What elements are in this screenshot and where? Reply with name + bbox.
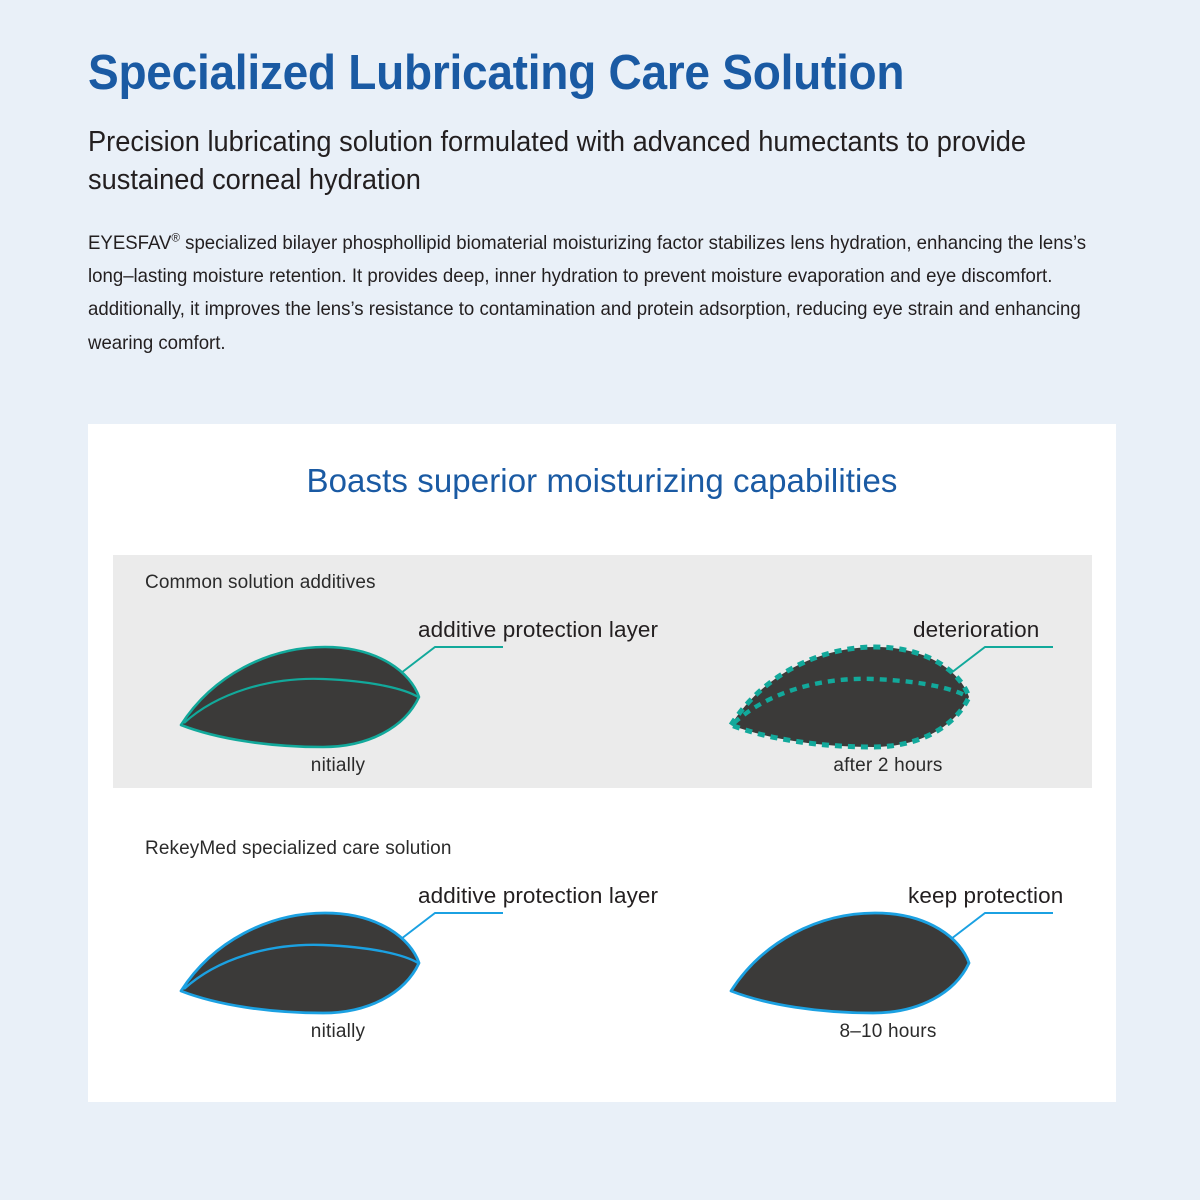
- page-subtitle: Precision lubricating solution formulate…: [88, 124, 1100, 200]
- registered-trademark-icon: ®: [171, 230, 180, 244]
- comparison-card: Boasts superior moisturizing capabilitie…: [88, 424, 1116, 1102]
- lens-figure-common-initial: additive protection layer nitially: [173, 627, 503, 787]
- header-block: Specialized Lubricating Care Solution Pr…: [88, 46, 1148, 360]
- lens-diagram-deteriorated-icon: [723, 627, 1053, 757]
- lens-figure-rekeymed-initial: additive protection layer nitially: [173, 893, 503, 1053]
- body-paragraph-text: specialized bilayer phosphollipid biomat…: [88, 232, 1086, 354]
- panel-label-common: Common solution additives: [145, 572, 376, 594]
- caption-8-10-hours: 8–10 hours: [723, 1021, 1053, 1043]
- poster-page: Specialized Lubricating Care Solution Pr…: [0, 0, 1200, 1200]
- panel-rekeymed-solution: RekeyMed specialized care solution addit…: [113, 788, 1092, 1088]
- card-title: Boasts superior moisturizing capabilitie…: [88, 462, 1116, 500]
- lens-diagram-intact-icon: [723, 893, 1053, 1023]
- caption-after-2-hours: after 2 hours: [723, 755, 1053, 777]
- callout-additive-protection-layer-2: additive protection layer: [418, 883, 658, 909]
- callout-deterioration: deterioration: [913, 617, 1039, 643]
- lens-diagram-icon: [173, 893, 503, 1023]
- panel-common-additives: Common solution additives additive prote…: [113, 555, 1092, 788]
- callout-keep-protection: keep protection: [908, 883, 1063, 909]
- lens-figure-rekeymed-after: keep protection 8–10 hours: [723, 893, 1053, 1053]
- panel-label-rekeymed: RekeyMed specialized care solution: [145, 838, 452, 860]
- caption-initially-2: nitially: [173, 1021, 503, 1043]
- caption-initially-1: nitially: [173, 755, 503, 777]
- body-paragraph: EYESFAV® specialized bilayer phosphollip…: [88, 227, 1106, 361]
- lens-figure-common-after: deterioration after 2 hours: [723, 627, 1053, 787]
- brand-name: EYESFAV: [88, 232, 171, 254]
- callout-additive-protection-layer-1: additive protection layer: [418, 617, 658, 643]
- lens-diagram-icon: [173, 627, 503, 757]
- page-title: Specialized Lubricating Care Solution: [88, 46, 1084, 101]
